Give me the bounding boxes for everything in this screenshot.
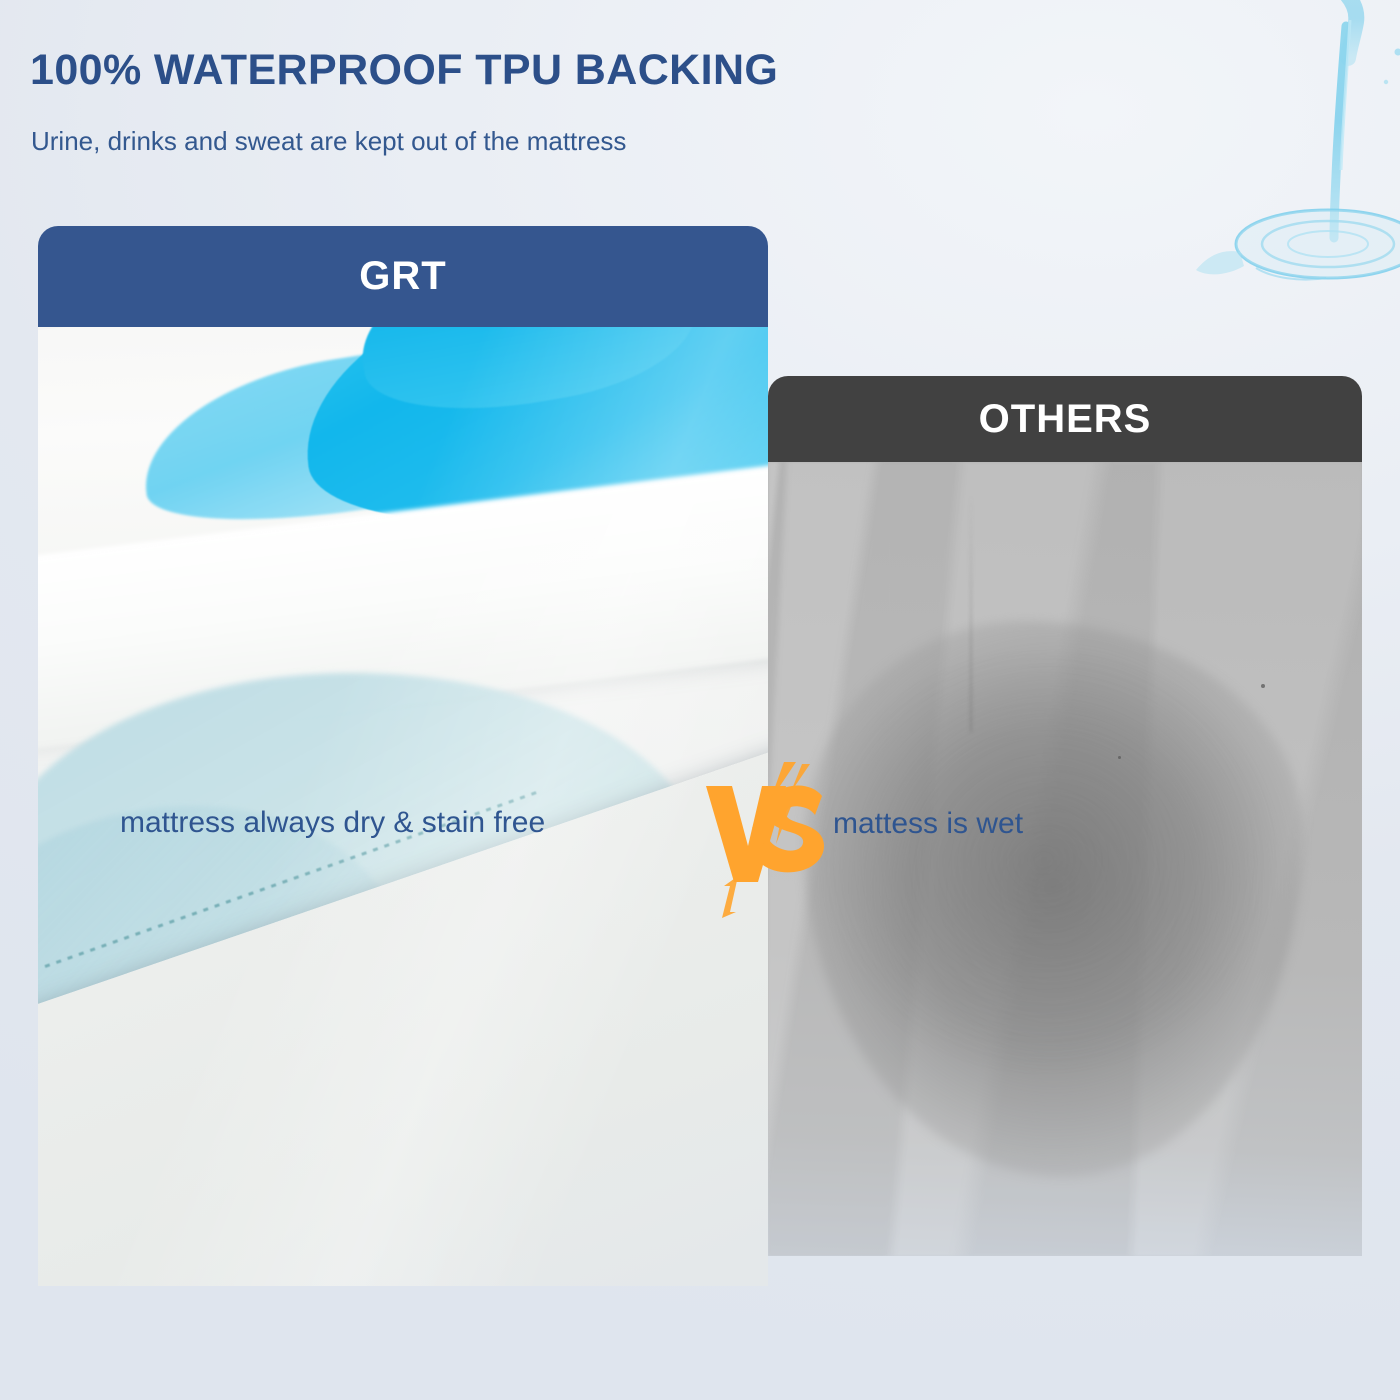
water-pour-icon: [1160, 0, 1400, 336]
others-caption: mattess is wet: [833, 807, 1023, 841]
page-subtitle: Urine, drinks and sweat are kept out of …: [31, 126, 626, 157]
comparison-panel-grt: GRT: [38, 226, 768, 1286]
others-header: OTHERS: [768, 376, 1362, 462]
wet-stain-spike: [970, 494, 972, 732]
others-header-label: OTHERS: [979, 397, 1152, 442]
grt-caption: mattress always dry & stain free: [120, 806, 545, 840]
page-title: 100% WATERPROOF TPU BACKING: [30, 46, 778, 95]
others-photo: [768, 462, 1362, 1256]
grt-header: GRT: [38, 226, 768, 327]
grt-header-label: GRT: [359, 254, 446, 299]
promo-page: 100% WATERPROOF TPU BACKING Urine, drink…: [0, 0, 1400, 1400]
